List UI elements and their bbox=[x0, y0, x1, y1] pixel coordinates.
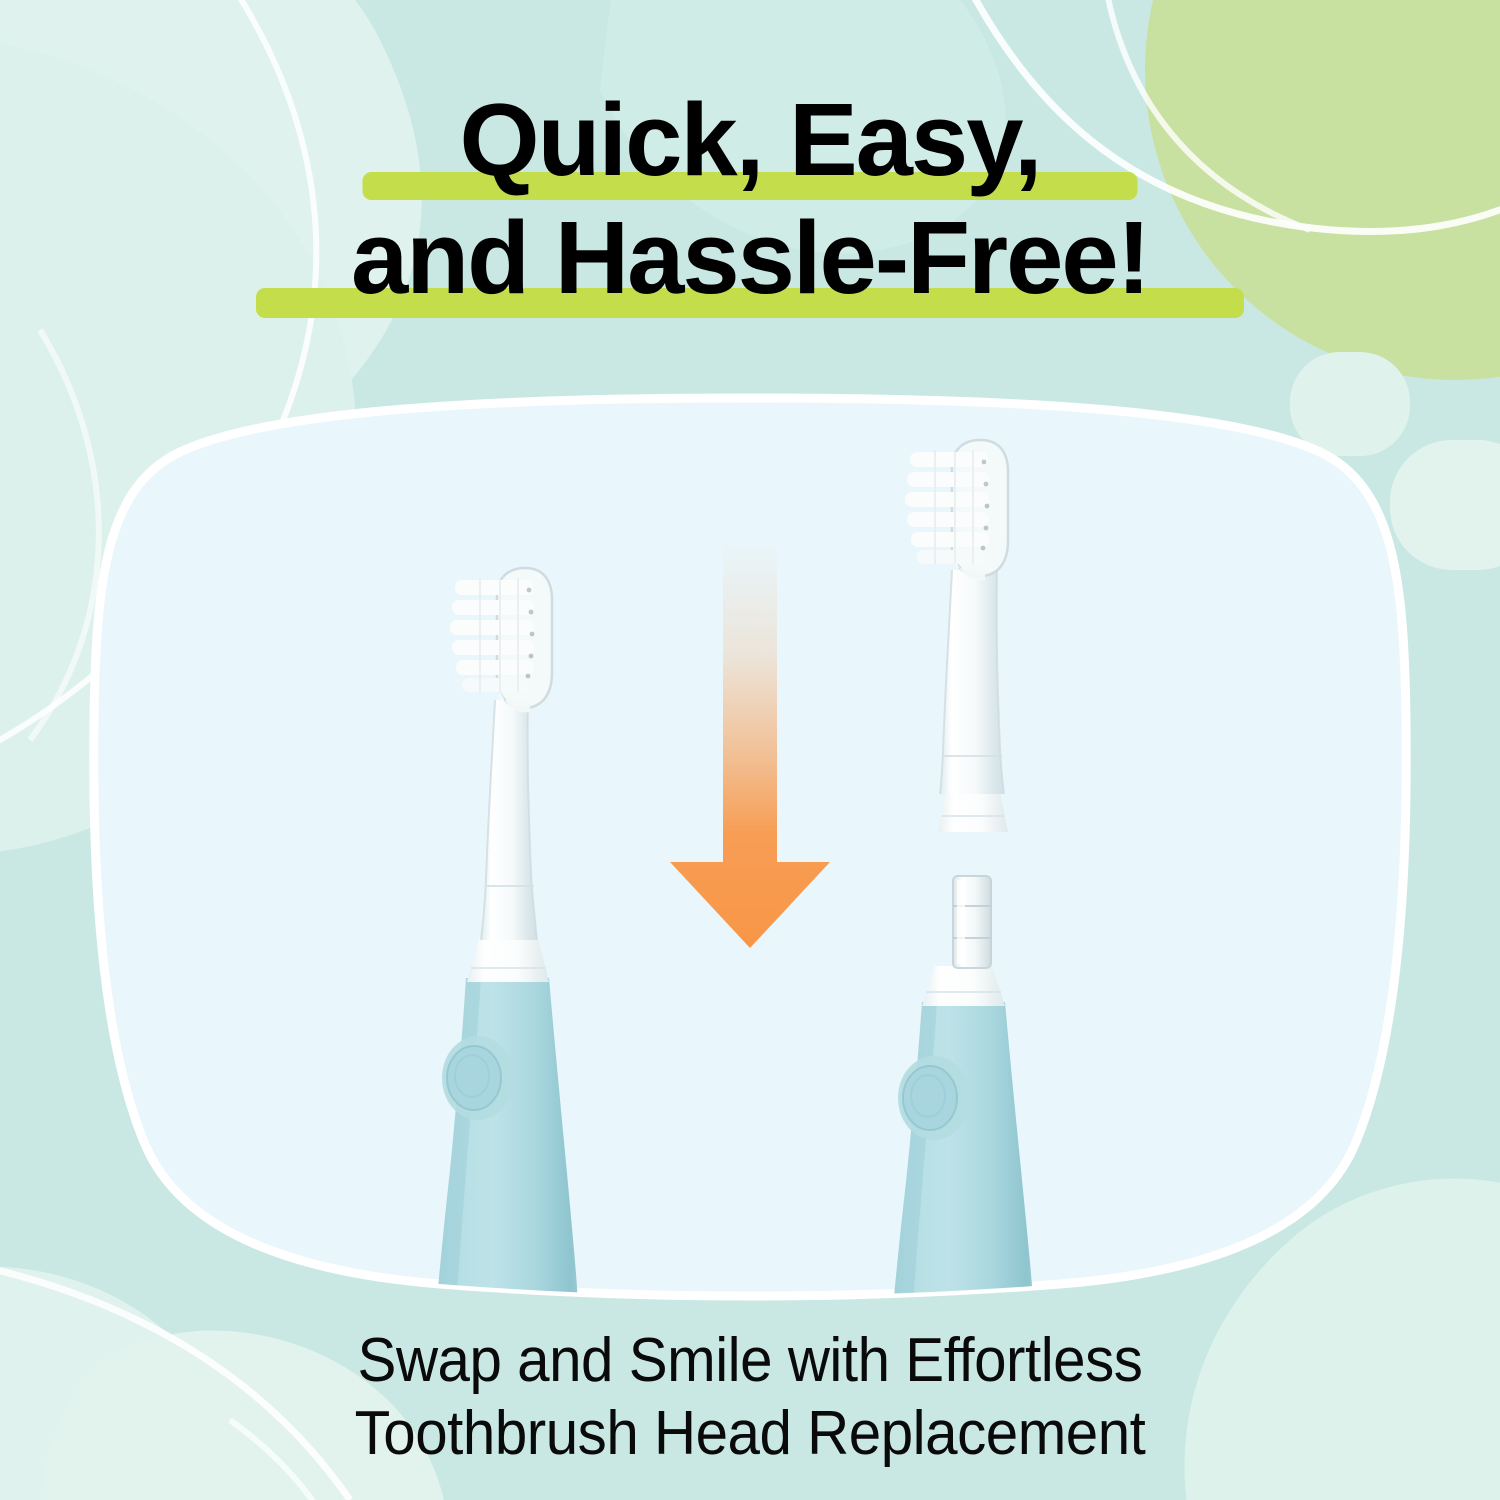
white-collar-left bbox=[467, 938, 549, 982]
head-base-collar-right bbox=[938, 792, 1008, 832]
power-button-left[interactable] bbox=[442, 1036, 514, 1120]
infographic-canvas: Quick, Easy, and Hassle-Free! bbox=[0, 0, 1500, 1500]
headline-block: Quick, Easy, and Hassle-Free! bbox=[0, 88, 1500, 332]
headline-line-1: Quick, Easy, bbox=[0, 88, 1500, 206]
power-button-right[interactable] bbox=[898, 1056, 970, 1140]
headline-line-2: and Hassle-Free! bbox=[0, 206, 1500, 332]
white-ring-right bbox=[922, 966, 1005, 1006]
caption-block: Swap and Smile with Effortless Toothbrus… bbox=[0, 1325, 1500, 1470]
headline-line-2-text: and Hassle-Free! bbox=[351, 206, 1149, 309]
caption-line-1: Swap and Smile with Effortless bbox=[45, 1325, 1455, 1398]
caption-line-2: Toothbrush Head Replacement bbox=[45, 1398, 1455, 1471]
headline-line-1-text: Quick, Easy, bbox=[460, 88, 1041, 191]
metal-shaft-right bbox=[953, 876, 991, 968]
